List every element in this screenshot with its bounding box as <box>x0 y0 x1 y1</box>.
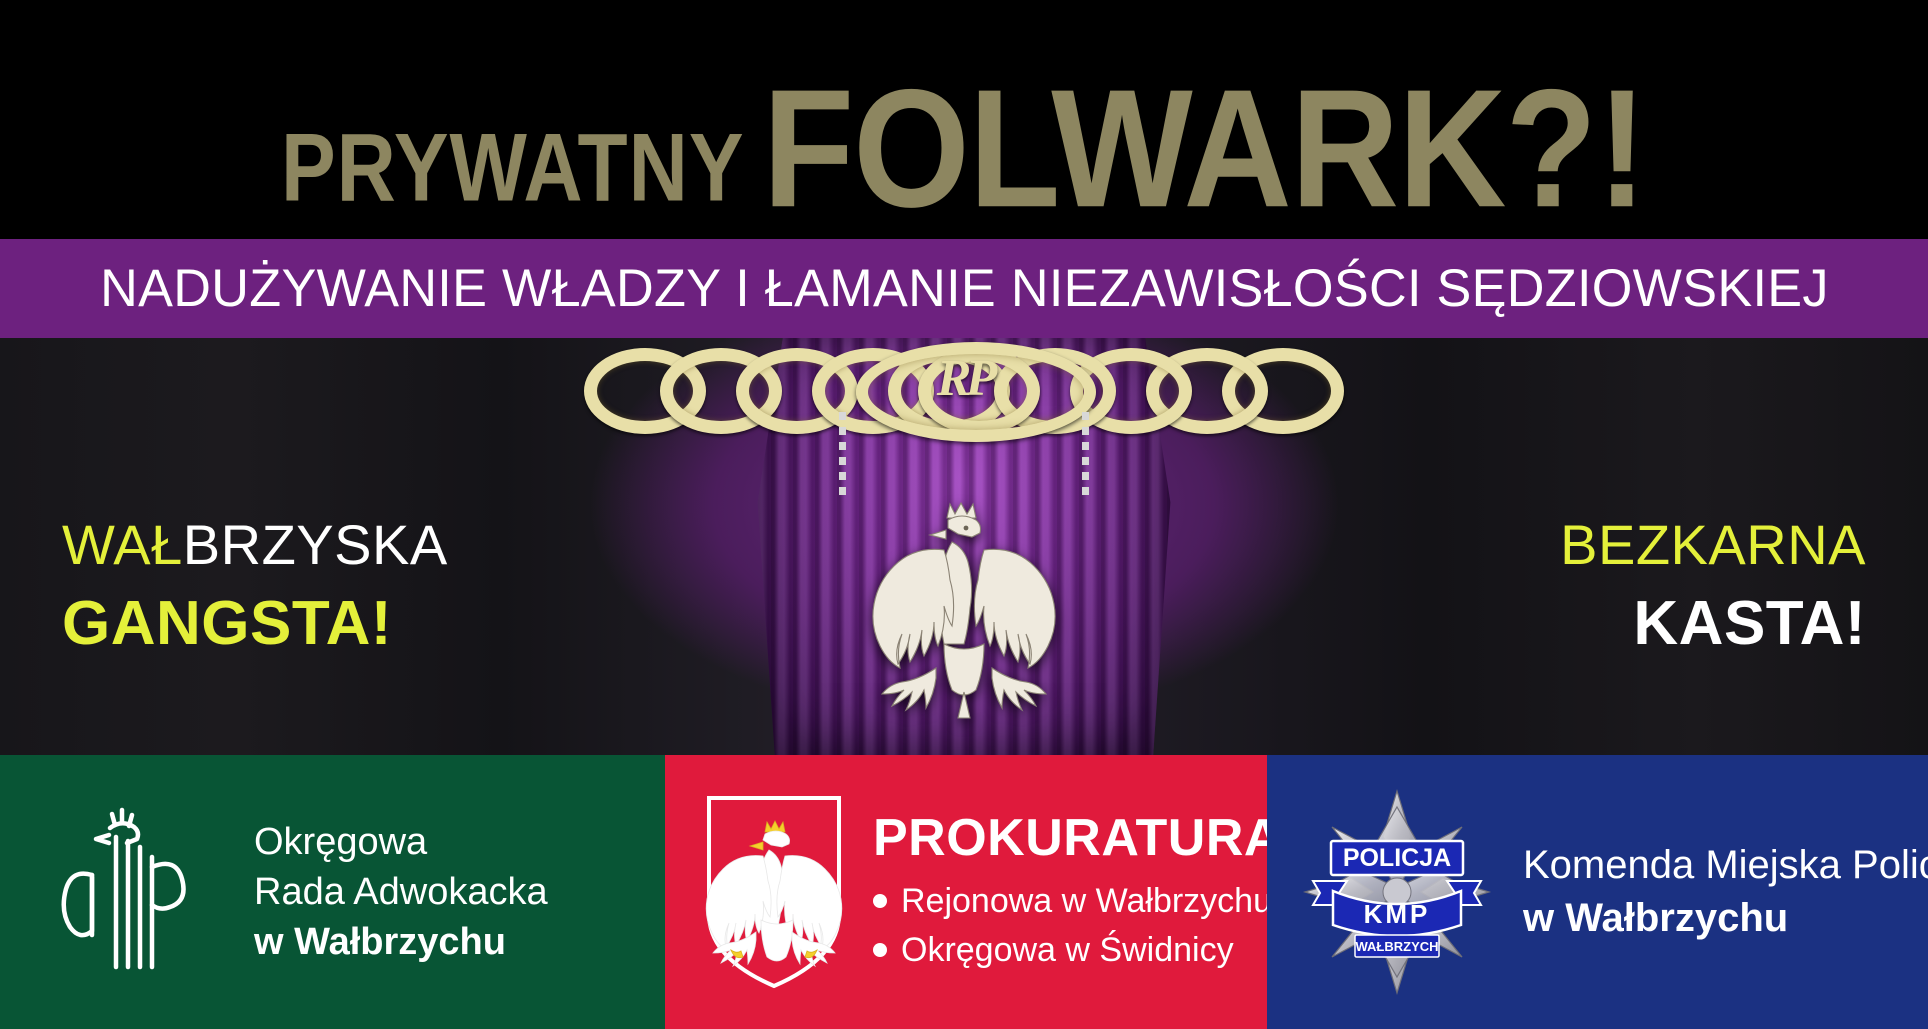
polish-coat-of-arms-shield-icon <box>703 792 845 992</box>
gold-chain: RP <box>584 338 1344 418</box>
pendant-hanger-right <box>1082 412 1089 500</box>
slogan-left-line2: GANGSTA! <box>62 591 448 656</box>
headline-big-word: FOLWARK <box>763 64 1506 232</box>
prosecutor-item-1: Rejonowa w Wałbrzychu <box>873 877 1267 925</box>
badge-city-label: WAŁBRZYCH <box>1355 939 1438 954</box>
prosecutor-title: PROKURATURA <box>873 810 1267 867</box>
prosecutor-text: PROKURATURA Rejonowa w Wałbrzychu Okręgo… <box>873 810 1267 974</box>
badge-policja-label: POLICJA <box>1343 844 1451 872</box>
slogan-left-plain: BRZYSKA <box>183 513 448 576</box>
polish-eagle-pendant-icon <box>824 488 1104 738</box>
bullet-icon <box>873 943 887 957</box>
panel-police: POLICJA KMP WAŁBRZYCH Komenda Miejska Po… <box>1267 755 1928 1029</box>
police-line-1: Komenda Miejska Policji <box>1523 839 1928 892</box>
slogan-left: WAŁBRZYSKA GANGSTA! <box>62 516 448 656</box>
bar-council-line-1: Okręgowa <box>254 817 548 867</box>
headline-punctuation: ?! <box>1505 64 1647 232</box>
footer-panels: Okręgowa Rada Adwokacka w Wałbrzychu <box>0 755 1928 1029</box>
bar-council-line-3: w Wałbrzychu <box>254 917 548 967</box>
slogan-right: BEZKARNA KASTA! <box>1560 516 1866 656</box>
prosecutor-item-2-label: Okręgowa w Świdnicy <box>901 926 1234 974</box>
bar-council-text: Okręgowa Rada Adwokacka w Wałbrzychu <box>254 817 548 967</box>
headline-small-word: PRYWATNY <box>281 120 745 217</box>
bar-council-line-2: Rada Adwokacka <box>254 867 548 917</box>
panel-prosecutor: PROKURATURA Rejonowa w Wałbrzychu Okręgo… <box>665 755 1267 1029</box>
subtitle-text: NADUŻYWANIE WŁADZY I ŁAMANIE NIEZAWISŁOŚ… <box>100 262 1829 315</box>
police-line-2: w Wałbrzychu <box>1523 892 1928 945</box>
poster-root: PRYWATNYFOLWARK?! NADUŻYWANIE WŁADZY I Ł… <box>0 0 1928 1029</box>
bullet-icon <box>873 894 887 908</box>
adwokatura-eagle-logo-icon <box>48 797 218 987</box>
prosecutor-item-1-label: Rejonowa w Wałbrzychu <box>901 877 1267 925</box>
subtitle-bar: NADUŻYWANIE WŁADZY I ŁAMANIE NIEZAWISŁOŚ… <box>0 239 1928 338</box>
rp-monogram: RP <box>918 348 1010 410</box>
slogan-left-line1: WAŁBRZYSKA <box>62 516 448 575</box>
panel-bar-council: Okręgowa Rada Adwokacka w Wałbrzychu <box>0 755 665 1029</box>
slogan-right-line1: BEZKARNA <box>1560 516 1866 575</box>
slogan-right-line2: KASTA! <box>1560 591 1866 656</box>
prosecutor-item-2: Okręgowa w Świdnicy <box>873 926 1267 974</box>
badge-kmp-label: KMP <box>1364 899 1431 929</box>
slogan-left-accent: WAŁ <box>62 513 183 576</box>
police-text: Komenda Miejska Policji w Wałbrzychu <box>1523 839 1928 945</box>
headline-inner: PRYWATNYFOLWARK?! <box>0 82 1928 232</box>
pendant-hanger-left <box>839 412 846 500</box>
policja-star-badge-icon: POLICJA KMP WAŁBRZYCH <box>1299 785 1495 999</box>
headline-band: PRYWATNYFOLWARK?! <box>0 0 1928 238</box>
